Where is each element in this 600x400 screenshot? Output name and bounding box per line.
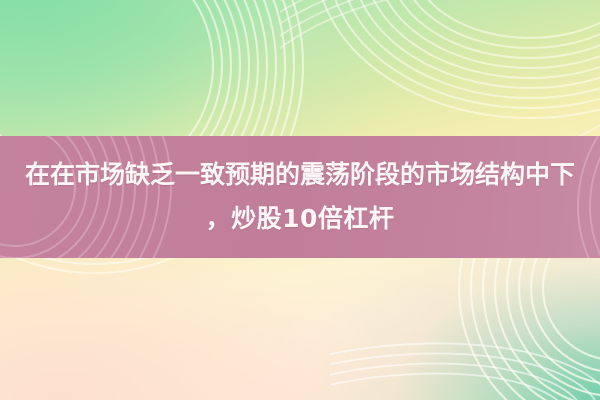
promo-banner: 在在市场缺乏一致预期的震荡阶段的市场结构中下 ，炒股10倍杠杆 (0, 0, 600, 400)
page-title: 在在市场缺乏一致预期的震荡阶段的市场结构中下 (0, 153, 600, 197)
page-subtitle: ，炒股10倍杠杆 (0, 197, 600, 241)
headline-band: 在在市场缺乏一致预期的震荡阶段的市场结构中下 ，炒股10倍杠杆 (0, 136, 600, 258)
